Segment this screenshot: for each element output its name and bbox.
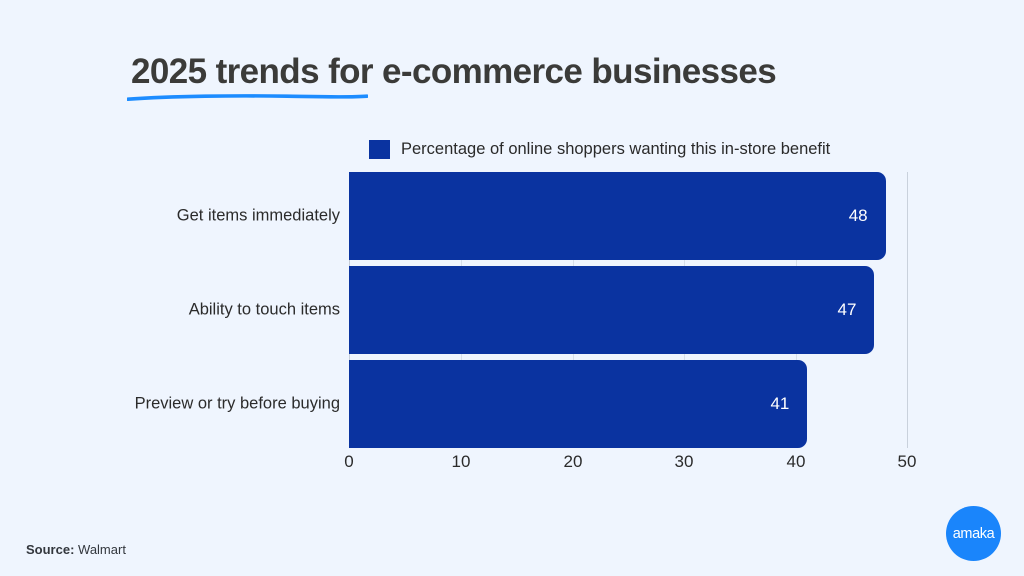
logo-text: amaka — [953, 526, 995, 542]
gridline-50 — [907, 172, 908, 448]
category-label: Preview or try before buying — [10, 395, 340, 414]
x-tick-label-10: 10 — [452, 452, 471, 472]
amaka-logo[interactable]: amaka — [946, 506, 1001, 561]
bar-value-label: 48 — [849, 206, 868, 226]
x-tick-label-0: 0 — [344, 452, 353, 472]
category-label-wrap: Preview or try before buying — [0, 360, 340, 448]
category-label: Ability to touch items — [10, 301, 340, 320]
category-label: Get items immediately — [10, 207, 340, 226]
x-tick-label-20: 20 — [564, 452, 583, 472]
source-label: Source: — [26, 542, 74, 557]
category-label-wrap: Ability to touch items — [0, 266, 340, 354]
x-tick-label-50: 50 — [898, 452, 917, 472]
source-attribution: Source: Walmart — [26, 542, 126, 557]
category-label-wrap: Get items immediately — [0, 172, 340, 260]
x-tick-label-40: 40 — [787, 452, 806, 472]
legend-color-swatch — [369, 140, 390, 159]
page-title: 2025 trends for e-commerce businesses — [131, 52, 776, 92]
chart-plot-area: Get items immediately 48 Ability to touc… — [349, 172, 908, 448]
title-underline-decoration — [127, 92, 368, 102]
bar-get-items-immediately[interactable]: 48 — [349, 172, 886, 260]
x-axis: 0 10 20 30 40 50 — [349, 452, 908, 476]
chart-legend: Percentage of online shoppers wanting th… — [369, 140, 830, 159]
source-value: Walmart — [78, 542, 126, 557]
bar-preview-or-try-before-buying[interactable]: 41 — [349, 360, 807, 448]
x-tick-label-30: 30 — [675, 452, 694, 472]
legend-label: Percentage of online shoppers wanting th… — [401, 140, 830, 159]
bar-value-label: 47 — [838, 300, 857, 320]
bar-ability-to-touch-items[interactable]: 47 — [349, 266, 874, 354]
bar-value-label: 41 — [770, 394, 789, 414]
